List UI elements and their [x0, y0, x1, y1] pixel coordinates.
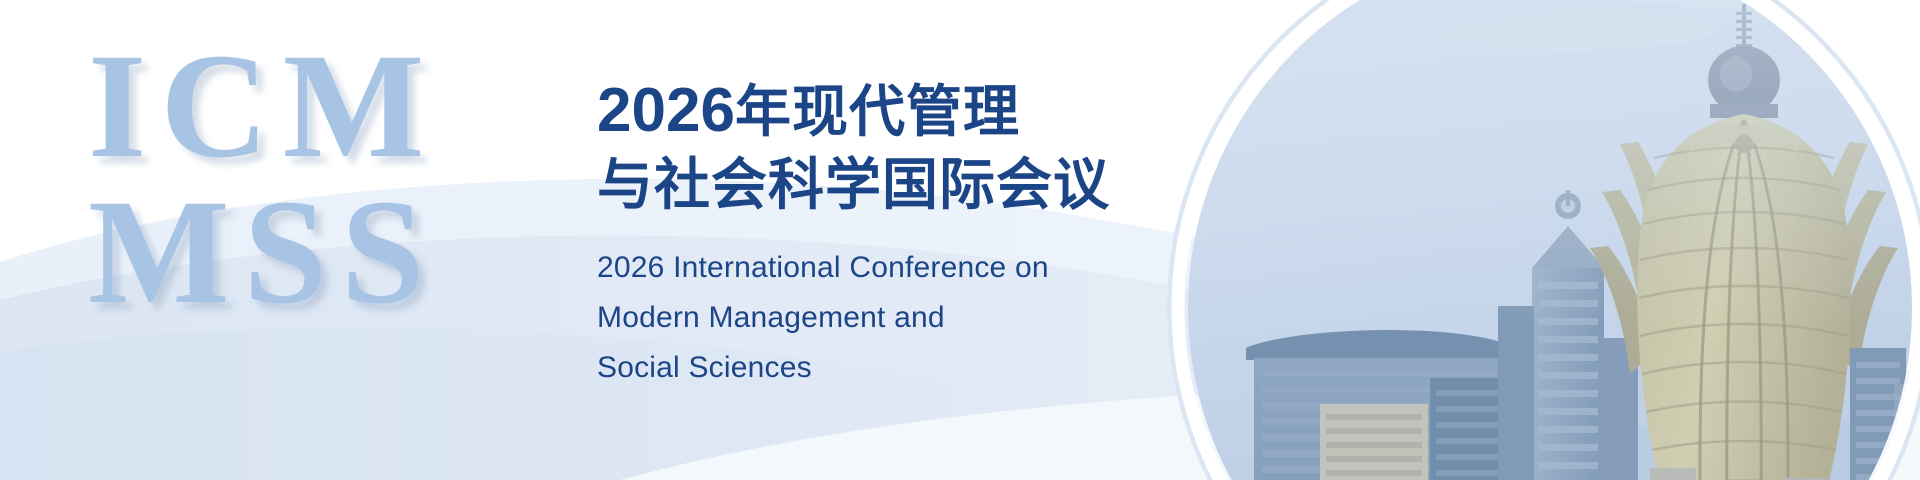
sky [1150, 0, 1920, 480]
english-title-line-1: 2026 International Conference on [597, 243, 1197, 293]
photo-top-haze [1150, 0, 1920, 328]
distant-hills [1270, 406, 1920, 480]
conference-banner: ICM MSS [0, 0, 1920, 480]
watermark-line-1: ICM [88, 34, 438, 180]
chinese-title-line-1-rest: 年现代管理 [735, 80, 1020, 143]
english-title-line-3: Social Sciences [597, 343, 1197, 393]
chinese-title-year: 2026 [597, 76, 735, 145]
wave-highlight [620, 382, 1920, 480]
macau-skyline-photo [1150, 0, 1920, 480]
photo-content [1150, 0, 1920, 480]
bank-of-china-tower [1498, 190, 1638, 480]
grand-lisboa-tower [1590, 4, 1898, 480]
photo-color-wash [1150, 0, 1920, 480]
english-title: 2026 International Conference on Modern … [597, 243, 1197, 394]
watermark-line-2: MSS [88, 180, 438, 326]
left-building-cluster [1246, 330, 1510, 480]
photo-white-ring [1178, 0, 1920, 480]
chinese-title-line-2: 与社会科学国际会议 [597, 150, 1197, 221]
icmmss-watermark: ICM MSS [88, 34, 438, 325]
photo-outer-arc [1170, 0, 1920, 480]
cloud [1420, 6, 1720, 50]
title-block: 2026年现代管理 与社会科学国际会议 2026 International C… [597, 72, 1197, 394]
right-building-cluster [1650, 338, 1920, 480]
english-title-line-2: Modern Management and [597, 293, 1197, 343]
cloud [1560, 0, 1920, 8]
chinese-title-line-1: 2026年现代管理 [597, 72, 1197, 150]
